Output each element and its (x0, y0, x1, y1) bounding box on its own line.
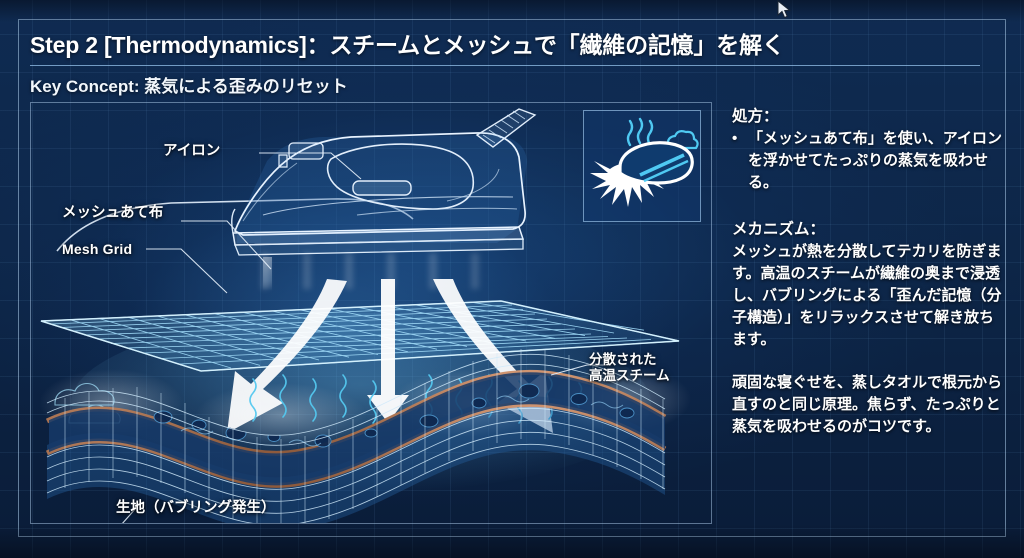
spacer (732, 195, 1002, 217)
slide-canvas: Step 2 [Thermodynamics]：スチームとメッシュで「繊維の記憶… (0, 0, 1024, 558)
label-dispersed-steam: 分散された 高温スチーム (589, 352, 670, 385)
steamed-towel-hair-icon (584, 111, 700, 221)
label-dispersed-steam-line1: 分散された (589, 352, 657, 367)
mechanism-body: メッシュが熱を分散してテカリを防ぎます。高温のスチームが繊維の奥まで浸透し、バブ… (732, 241, 1002, 352)
label-mesh-grid: Mesh Grid (62, 241, 132, 258)
mechanism-heading: メカニズム： (732, 217, 1002, 239)
explanation-column: 処方： 「メッシュあて布」を使い、アイロンを浮かせてたっぷりの蒸気を吸わせる。 … (732, 104, 1002, 438)
title-divider (30, 65, 980, 66)
page-subtitle: Key Concept: 蒸気による歪みのリセット (30, 72, 990, 97)
prescription-heading: 処方： (732, 104, 1002, 126)
label-mesh-cloth: メッシュあて布 (62, 205, 163, 223)
page-title: Step 2 [Thermodynamics]：スチームとメッシュで「繊維の記憶… (30, 26, 990, 65)
header: Step 2 [Thermodynamics]：スチームとメッシュで「繊維の記憶… (30, 26, 990, 97)
analogy-body: 頑固な寝ぐせを、蒸しタオルで根元から直すのと同じ原理。焦らず、たっぷりと蒸気を吸… (732, 372, 1002, 439)
label-dispersed-steam-line2: 高温スチーム (589, 368, 670, 383)
list-item: 「メッシュあて布」を使い、アイロンを浮かせてたっぷりの蒸気を吸わせる。 (732, 128, 1002, 195)
label-fabric: 生地（バブリング発生） (116, 500, 276, 518)
label-iron: アイロン (163, 143, 220, 161)
mouse-cursor-icon (777, 0, 793, 22)
spacer-2 (732, 352, 1002, 372)
prescription-list: 「メッシュあて布」を使い、アイロンを浮かせてたっぷりの蒸気を吸わせる。 (732, 128, 1002, 195)
steamed-towel-icon-box (583, 110, 701, 222)
